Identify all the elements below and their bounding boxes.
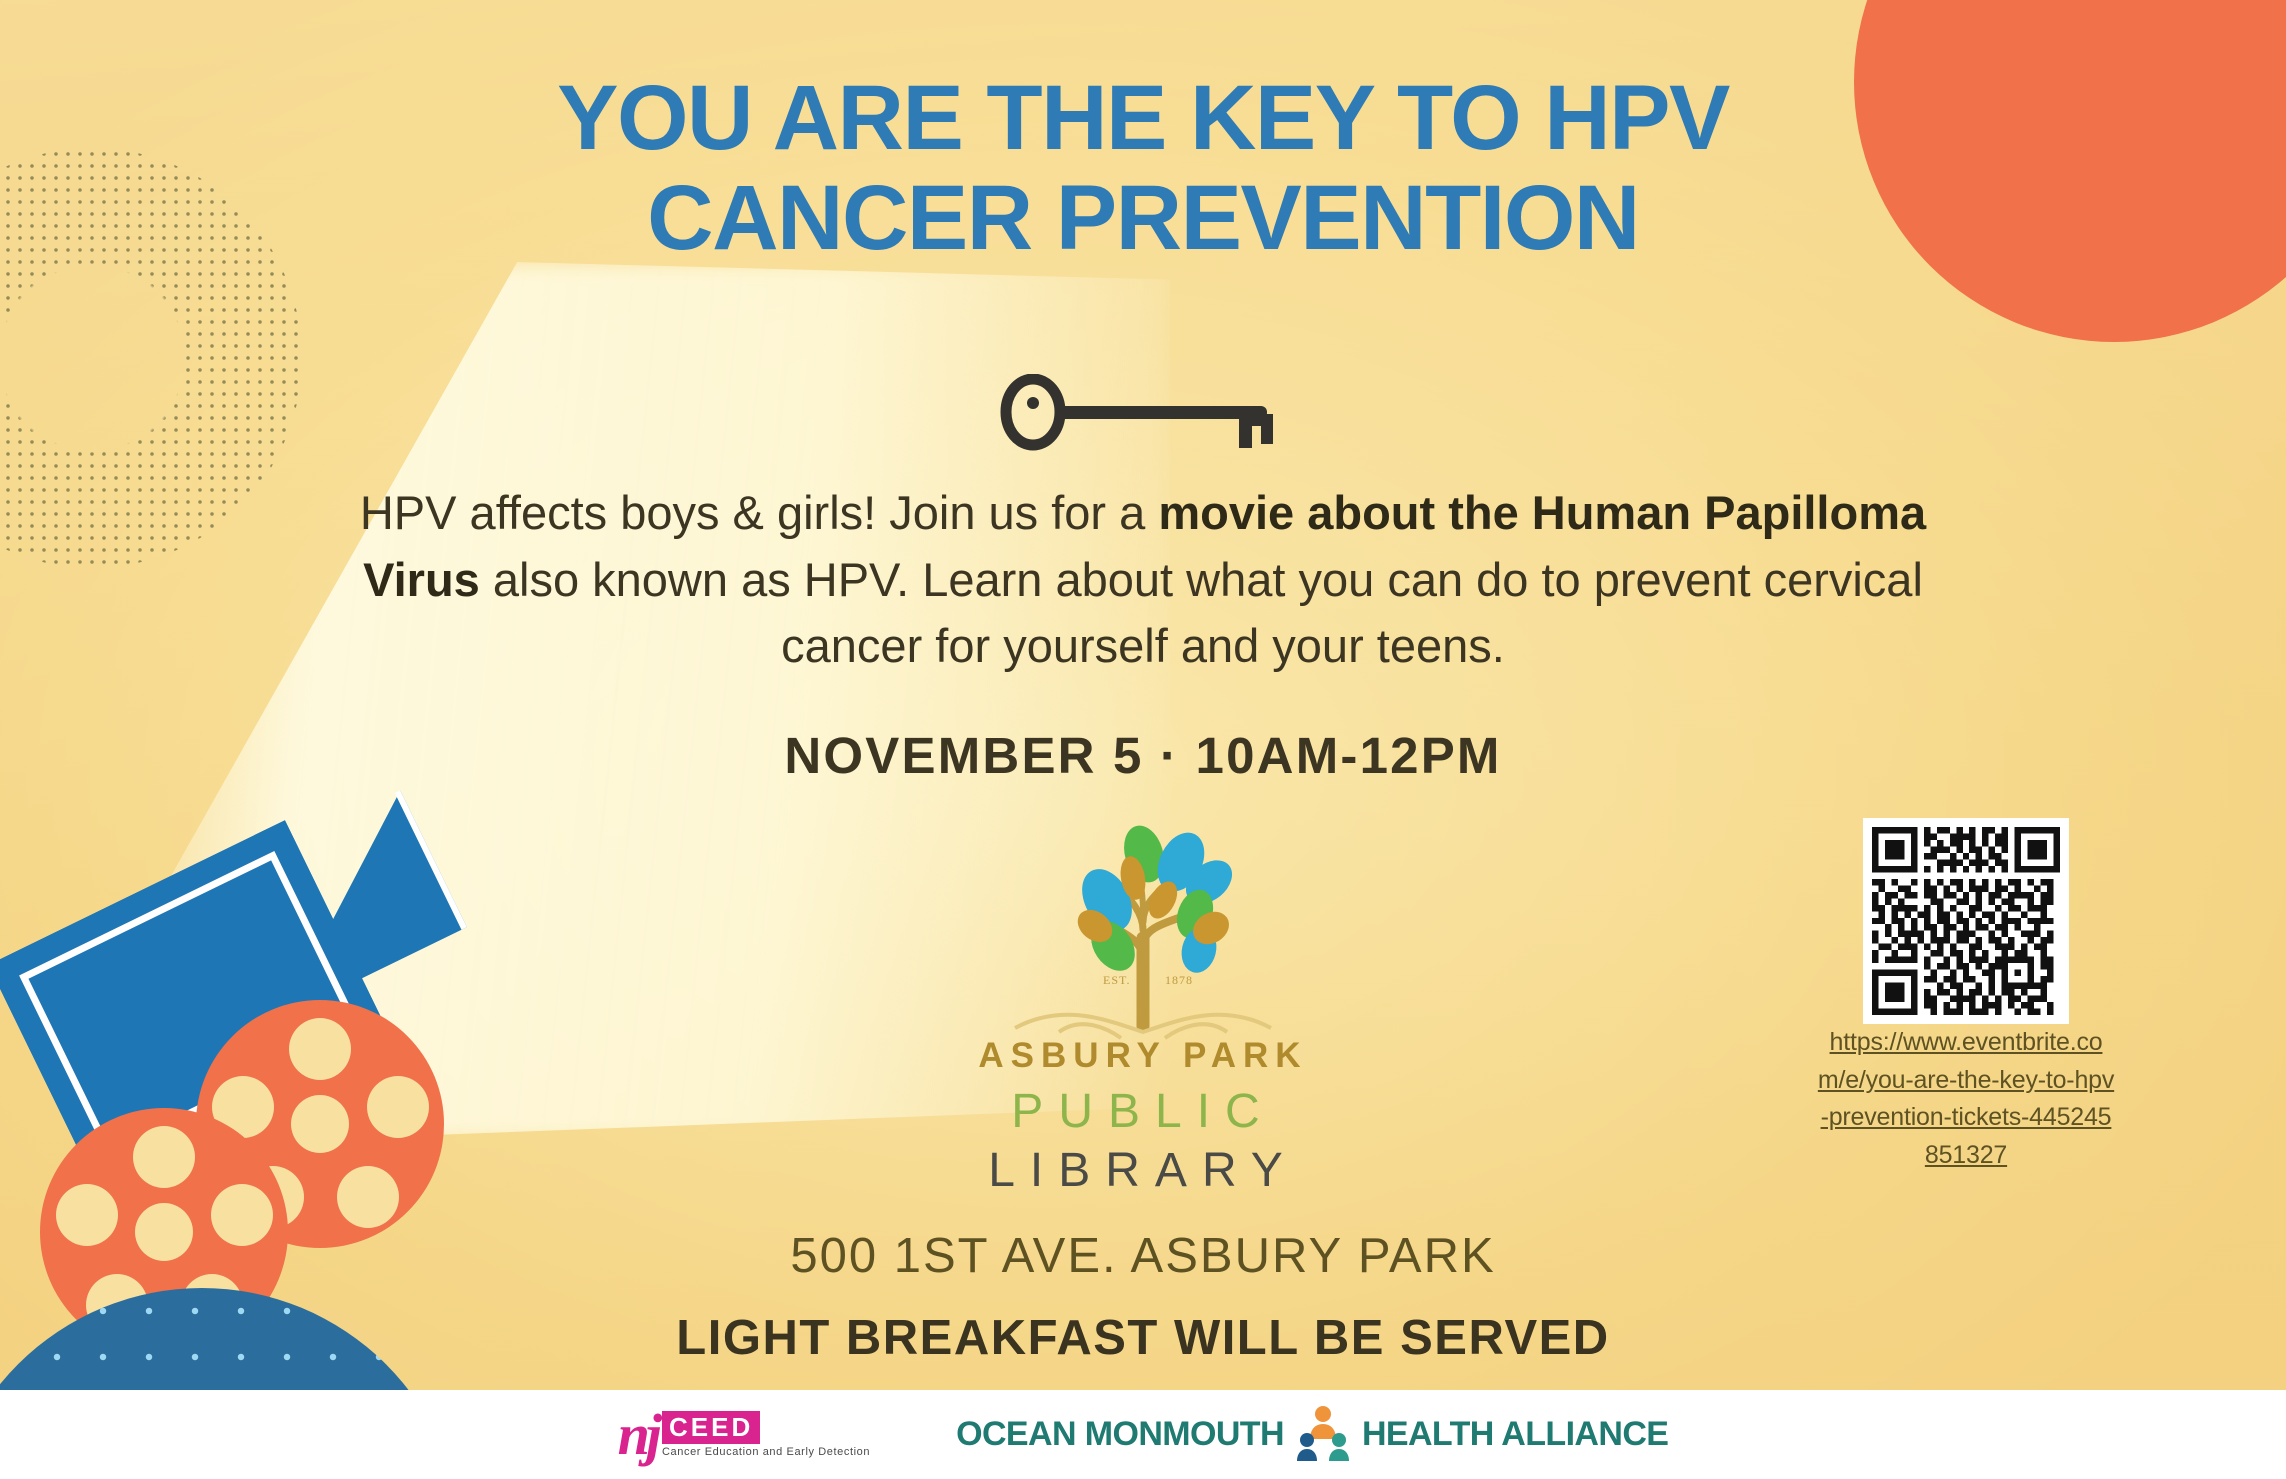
ocean-monmouth-health-alliance-logo: OCEAN MONMOUTH HEALTH ALLIANCE xyxy=(956,1404,1668,1466)
poster-canvas: YOU ARE THE KEY TO HPV CANCER PREVENTION… xyxy=(0,0,2286,1479)
people-circle-icon xyxy=(1296,1404,1350,1466)
sponsor-logo-bar: nj CEED Cancer Education and Early Detec… xyxy=(0,1390,2286,1479)
nj-wordmark: nj xyxy=(618,1406,658,1464)
ceed-subtitle: Cancer Education and Early Detection xyxy=(662,1446,870,1458)
svg-text:1878: 1878 xyxy=(1165,973,1193,987)
omha-wordmark-right: HEALTH ALLIANCE xyxy=(1362,1415,1668,1454)
page-title: YOU ARE THE KEY TO HPV CANCER PREVENTION xyxy=(343,68,1943,269)
breakfast-note: LIGHT BREAKFAST WILL BE SERVED xyxy=(343,1310,1943,1366)
tree-logo-icon: EST. 1878 xyxy=(1003,818,1283,1040)
poster-content: YOU ARE THE KEY TO HPV CANCER PREVENTION… xyxy=(0,0,2286,1390)
ceed-mark: CEED Cancer Education and Early Detectio… xyxy=(662,1411,870,1458)
registration-block[interactable]: https://www.eventbrite.com/e/you-are-the… xyxy=(1816,818,2116,1174)
title-line-1: YOU ARE THE KEY TO HPV xyxy=(557,67,1729,169)
omha-wordmark-left: OCEAN MONMOUTH xyxy=(956,1415,1284,1454)
nj-ceed-logo: nj CEED Cancer Education and Early Detec… xyxy=(618,1406,870,1464)
paragraph-part-2: also known as HPV. Learn about what you … xyxy=(480,553,1923,673)
qr-code-icon[interactable] xyxy=(1863,818,2069,1024)
description-paragraph: HPV affects boys & girls! Join us for a … xyxy=(298,480,1988,680)
title-line-2: CANCER PREVENTION xyxy=(647,167,1639,269)
event-address: 500 1ST AVE. ASBURY PARK xyxy=(393,1228,1893,1284)
event-datetime: NOVEMBER 5 · 10AM-12PM xyxy=(443,726,1843,785)
library-name-line-3: LIBRARY xyxy=(883,1143,1403,1198)
library-logo-block: EST. 1878 ASBURY PARK PUBLIC LIBRARY xyxy=(883,818,1403,1198)
paragraph-part-1: HPV affects boys & girls! Join us for a xyxy=(360,486,1158,539)
ceed-wordmark: CEED xyxy=(662,1411,760,1444)
library-name-line-2: PUBLIC xyxy=(883,1084,1403,1139)
registration-url-link[interactable]: https://www.eventbrite.com/e/you-are-the… xyxy=(1818,1028,2114,1169)
key-icon xyxy=(995,374,1291,459)
library-name-line-1: ASBURY PARK xyxy=(883,1036,1403,1076)
svg-text:EST.: EST. xyxy=(1103,973,1130,987)
